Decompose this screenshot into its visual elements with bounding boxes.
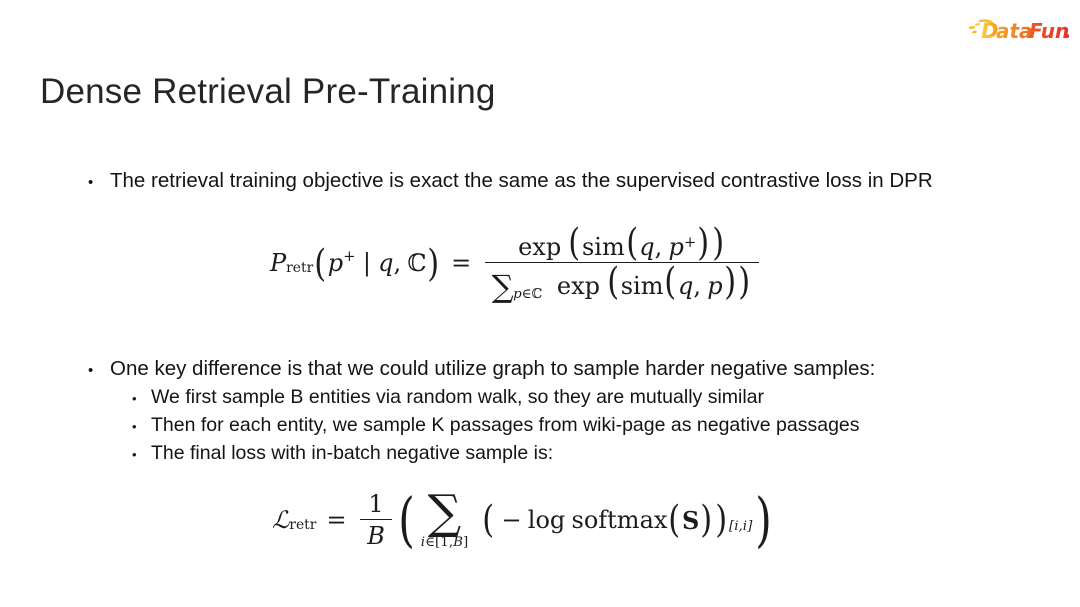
list-item-text: The final loss with in-batch negative sa… — [151, 440, 553, 467]
list-item-text: We first sample B entities via random wa… — [151, 384, 764, 411]
bullet-marker-icon: • — [132, 385, 151, 412]
formula-retrieval-probability: Pretr(p+ |q, ℂ) = exp(sim(q,p+)) ∑p∈ℂ ex… — [270, 226, 762, 300]
bullet-marker-icon: • — [132, 441, 151, 468]
slide-canvas: D ata Fun Dense Retrieval Pre-Training •… — [0, 0, 1080, 607]
list-item: • One key difference is that we could ut… — [88, 355, 875, 384]
svg-text:ata: ata — [996, 19, 1033, 43]
bullet-group-one: • The retrieval training objective is ex… — [88, 167, 933, 196]
list-item-text: One key difference is that we could util… — [110, 355, 875, 382]
formula-retrieval-loss: ℒretr = 1 B ( ∑ i∈[1,B] (−logsoftmax(S))… — [272, 490, 775, 550]
list-item: • Then for each entity, we sample K pass… — [132, 412, 875, 440]
list-item-text: Then for each entity, we sample K passag… — [151, 412, 860, 439]
bullet-group-two: • One key difference is that we could ut… — [88, 355, 875, 468]
list-item: • The retrieval training objective is ex… — [88, 167, 933, 196]
datafun-logo: D ata Fun — [968, 14, 1072, 46]
bullet-marker-icon: • — [88, 357, 110, 384]
list-item-text: The retrieval training objective is exac… — [110, 167, 933, 194]
page-title: Dense Retrieval Pre-Training — [40, 72, 496, 112]
datafun-logo-icon: D ata Fun — [968, 15, 1072, 45]
bullet-marker-icon: • — [88, 169, 110, 196]
svg-text:Fun: Fun — [1029, 19, 1069, 43]
list-item: • We first sample B entities via random … — [132, 384, 875, 412]
bullet-marker-icon: • — [132, 413, 151, 440]
list-item: • The final loss with in-batch negative … — [132, 440, 875, 468]
